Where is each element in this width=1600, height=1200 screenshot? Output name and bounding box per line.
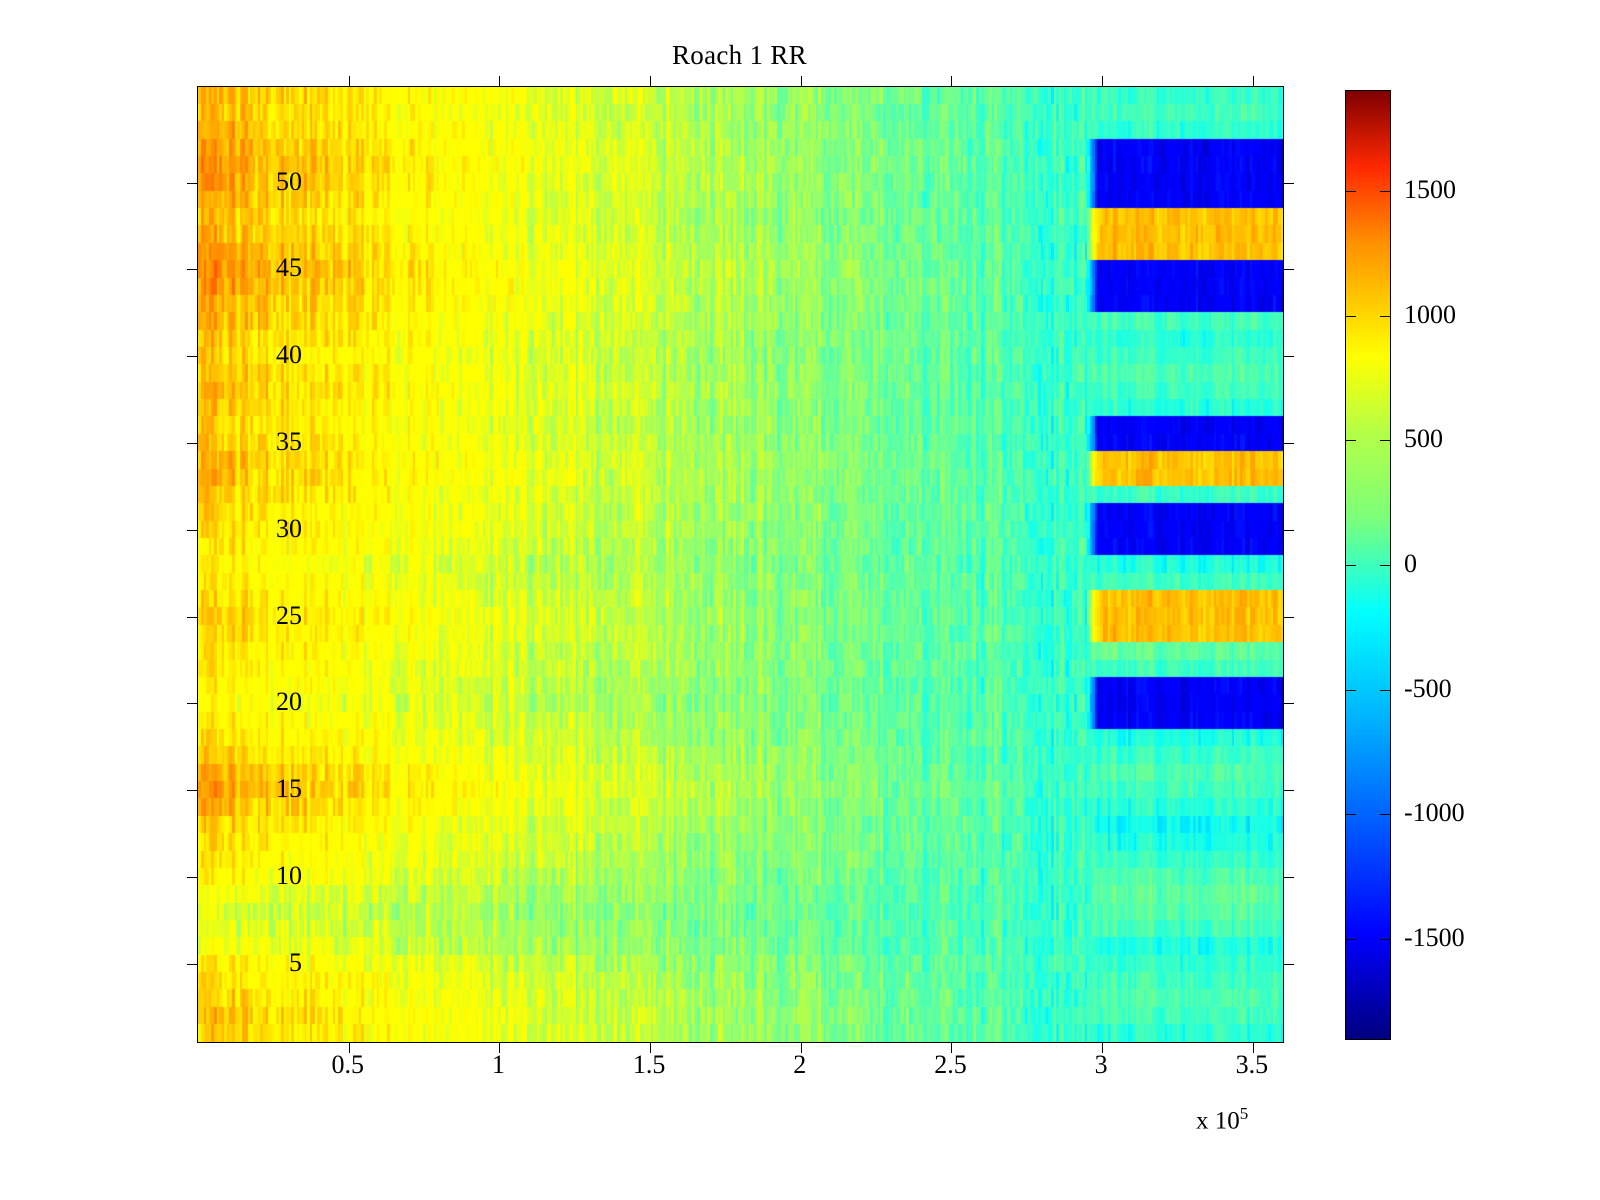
x-tick-label: 3.5 — [1182, 1050, 1322, 1080]
y-tick-mark-right — [1283, 530, 1294, 531]
x-axis-exponent-base: x 10 — [1196, 1107, 1240, 1134]
x-tick-mark-top — [801, 76, 802, 87]
colorbar-tick-mark-right — [1380, 440, 1390, 441]
plot-area[interactable] — [197, 86, 1284, 1043]
colorbar-tick-mark — [1346, 191, 1356, 192]
y-tick-label: 50 — [182, 169, 302, 195]
x-tick-mark-top — [951, 76, 952, 87]
colorbar-tick-label: 0 — [1404, 551, 1417, 577]
y-tick-label: 10 — [182, 863, 302, 889]
page-title: Roach 1 RR — [197, 40, 1282, 71]
y-tick-mark-right — [1283, 877, 1294, 878]
colorbar-tick-mark — [1346, 565, 1356, 566]
y-tick-mark-right — [1283, 617, 1294, 618]
colorbar-tick-mark — [1346, 939, 1356, 940]
y-tick-label: 5 — [182, 950, 302, 976]
colorbar-tick-mark-right — [1380, 191, 1390, 192]
x-tick-label: 2 — [730, 1050, 870, 1080]
y-tick-label: 20 — [182, 689, 302, 715]
colorbar-tick-label: -1500 — [1404, 925, 1465, 951]
y-tick-mark-right — [1283, 356, 1294, 357]
y-tick-mark-right — [1283, 269, 1294, 270]
x-tick-mark-top — [349, 76, 350, 87]
heatmap-canvas[interactable] — [198, 87, 1283, 1042]
x-axis-exponent: x 105 — [1196, 1104, 1248, 1135]
x-tick-mark-top — [499, 76, 500, 87]
y-tick-mark-right — [1283, 964, 1294, 965]
colorbar-tick-mark-right — [1380, 814, 1390, 815]
colorbar-tick-label: -1000 — [1404, 800, 1465, 826]
x-tick-label: 1.5 — [579, 1050, 719, 1080]
colorbar-tick-mark — [1346, 316, 1356, 317]
x-tick-label: 1 — [428, 1050, 568, 1080]
colorbar-tick-mark-right — [1380, 690, 1390, 691]
colorbar-tick-mark — [1346, 440, 1356, 441]
x-tick-label: 2.5 — [880, 1050, 1020, 1080]
colorbar[interactable] — [1345, 90, 1391, 1040]
y-tick-mark-right — [1283, 703, 1294, 704]
x-tick-mark-top — [650, 76, 651, 87]
y-tick-label: 35 — [182, 429, 302, 455]
colorbar-tick-mark-right — [1380, 939, 1390, 940]
colorbar-tick-mark — [1346, 690, 1356, 691]
y-tick-mark-right — [1283, 183, 1294, 184]
x-tick-mark-top — [1253, 76, 1254, 87]
x-axis-exponent-power: 5 — [1240, 1104, 1249, 1123]
colorbar-tick-mark-right — [1380, 316, 1390, 317]
colorbar-tick-label: 1500 — [1404, 177, 1456, 203]
x-tick-mark-top — [1102, 76, 1103, 87]
figure-root: Roach 1 RR 5101520253035404550 0.511.522… — [0, 0, 1600, 1200]
y-tick-label: 45 — [182, 255, 302, 281]
y-tick-label: 30 — [182, 516, 302, 542]
colorbar-tick-label: 500 — [1404, 426, 1443, 452]
colorbar-tick-mark-right — [1380, 565, 1390, 566]
x-tick-label: 3 — [1031, 1050, 1171, 1080]
y-tick-mark-right — [1283, 443, 1294, 444]
colorbar-tick-label: -500 — [1404, 676, 1452, 702]
colorbar-tick-mark — [1346, 814, 1356, 815]
x-tick-label: 0.5 — [278, 1050, 418, 1080]
y-tick-label: 15 — [182, 776, 302, 802]
y-tick-mark-right — [1283, 790, 1294, 791]
colorbar-tick-label: 1000 — [1404, 302, 1456, 328]
y-tick-label: 25 — [182, 603, 302, 629]
y-tick-label: 40 — [182, 342, 302, 368]
